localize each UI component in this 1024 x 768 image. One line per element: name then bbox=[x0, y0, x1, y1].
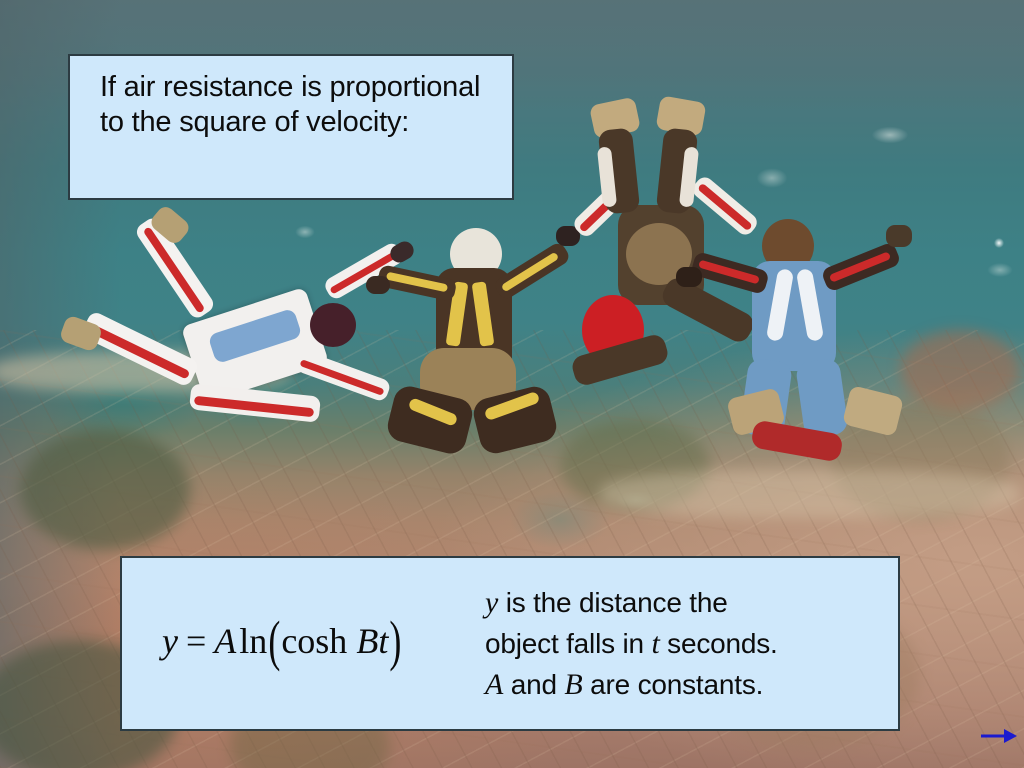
diver-glove bbox=[366, 276, 390, 294]
description-line2-post: seconds. bbox=[660, 628, 778, 659]
description-line2-pre: object falls in bbox=[485, 628, 651, 659]
arrow-right-icon[interactable] bbox=[980, 726, 1018, 746]
formula-close-paren: ) bbox=[389, 608, 401, 673]
formula-lhs: y bbox=[162, 621, 178, 661]
diver-right-blue bbox=[700, 215, 950, 475]
diver-boot bbox=[842, 385, 904, 437]
formula-equals: = bbox=[186, 621, 206, 661]
formula-arg-b: B bbox=[356, 621, 378, 661]
diver-helmet bbox=[310, 303, 356, 347]
description-line1-rest: is the distance the bbox=[498, 587, 727, 618]
diver-glove bbox=[886, 225, 912, 247]
statement-textbox: If air resistance is proportional to the… bbox=[68, 54, 514, 200]
diver-left-white-red bbox=[60, 225, 400, 475]
diver-leg bbox=[795, 357, 849, 438]
description-line-3: A and B are constants. bbox=[485, 664, 885, 705]
description-var-b: B bbox=[564, 668, 582, 701]
description-line-1: y is the distance the bbox=[485, 582, 885, 623]
equation-formula: y=Aln(coshBt) bbox=[162, 620, 402, 662]
equation-description: y is the distance the object falls in t … bbox=[485, 582, 885, 705]
formula-coefficient-a: A bbox=[214, 621, 236, 661]
description-var-a: A bbox=[485, 668, 503, 701]
description-line3-post: are constants. bbox=[583, 669, 764, 700]
statement-text: If air resistance is proportional to the… bbox=[100, 70, 496, 140]
shoreline-strip bbox=[600, 470, 1020, 518]
formula-arg-t: t bbox=[378, 621, 388, 661]
description-line-2: object falls in t seconds. bbox=[485, 623, 885, 664]
formula-ln: ln bbox=[239, 621, 267, 661]
slide: If air resistance is proportional to the… bbox=[0, 0, 1024, 768]
formula-open-paren: ( bbox=[268, 608, 280, 673]
formula-cosh: cosh bbox=[281, 621, 347, 661]
description-var-y: y bbox=[485, 586, 498, 619]
diver-glove bbox=[676, 267, 702, 287]
equation-textbox: y=Aln(coshBt) y is the distance the obje… bbox=[120, 556, 900, 731]
description-line3-mid: and bbox=[503, 669, 564, 700]
description-var-t: t bbox=[651, 627, 659, 660]
